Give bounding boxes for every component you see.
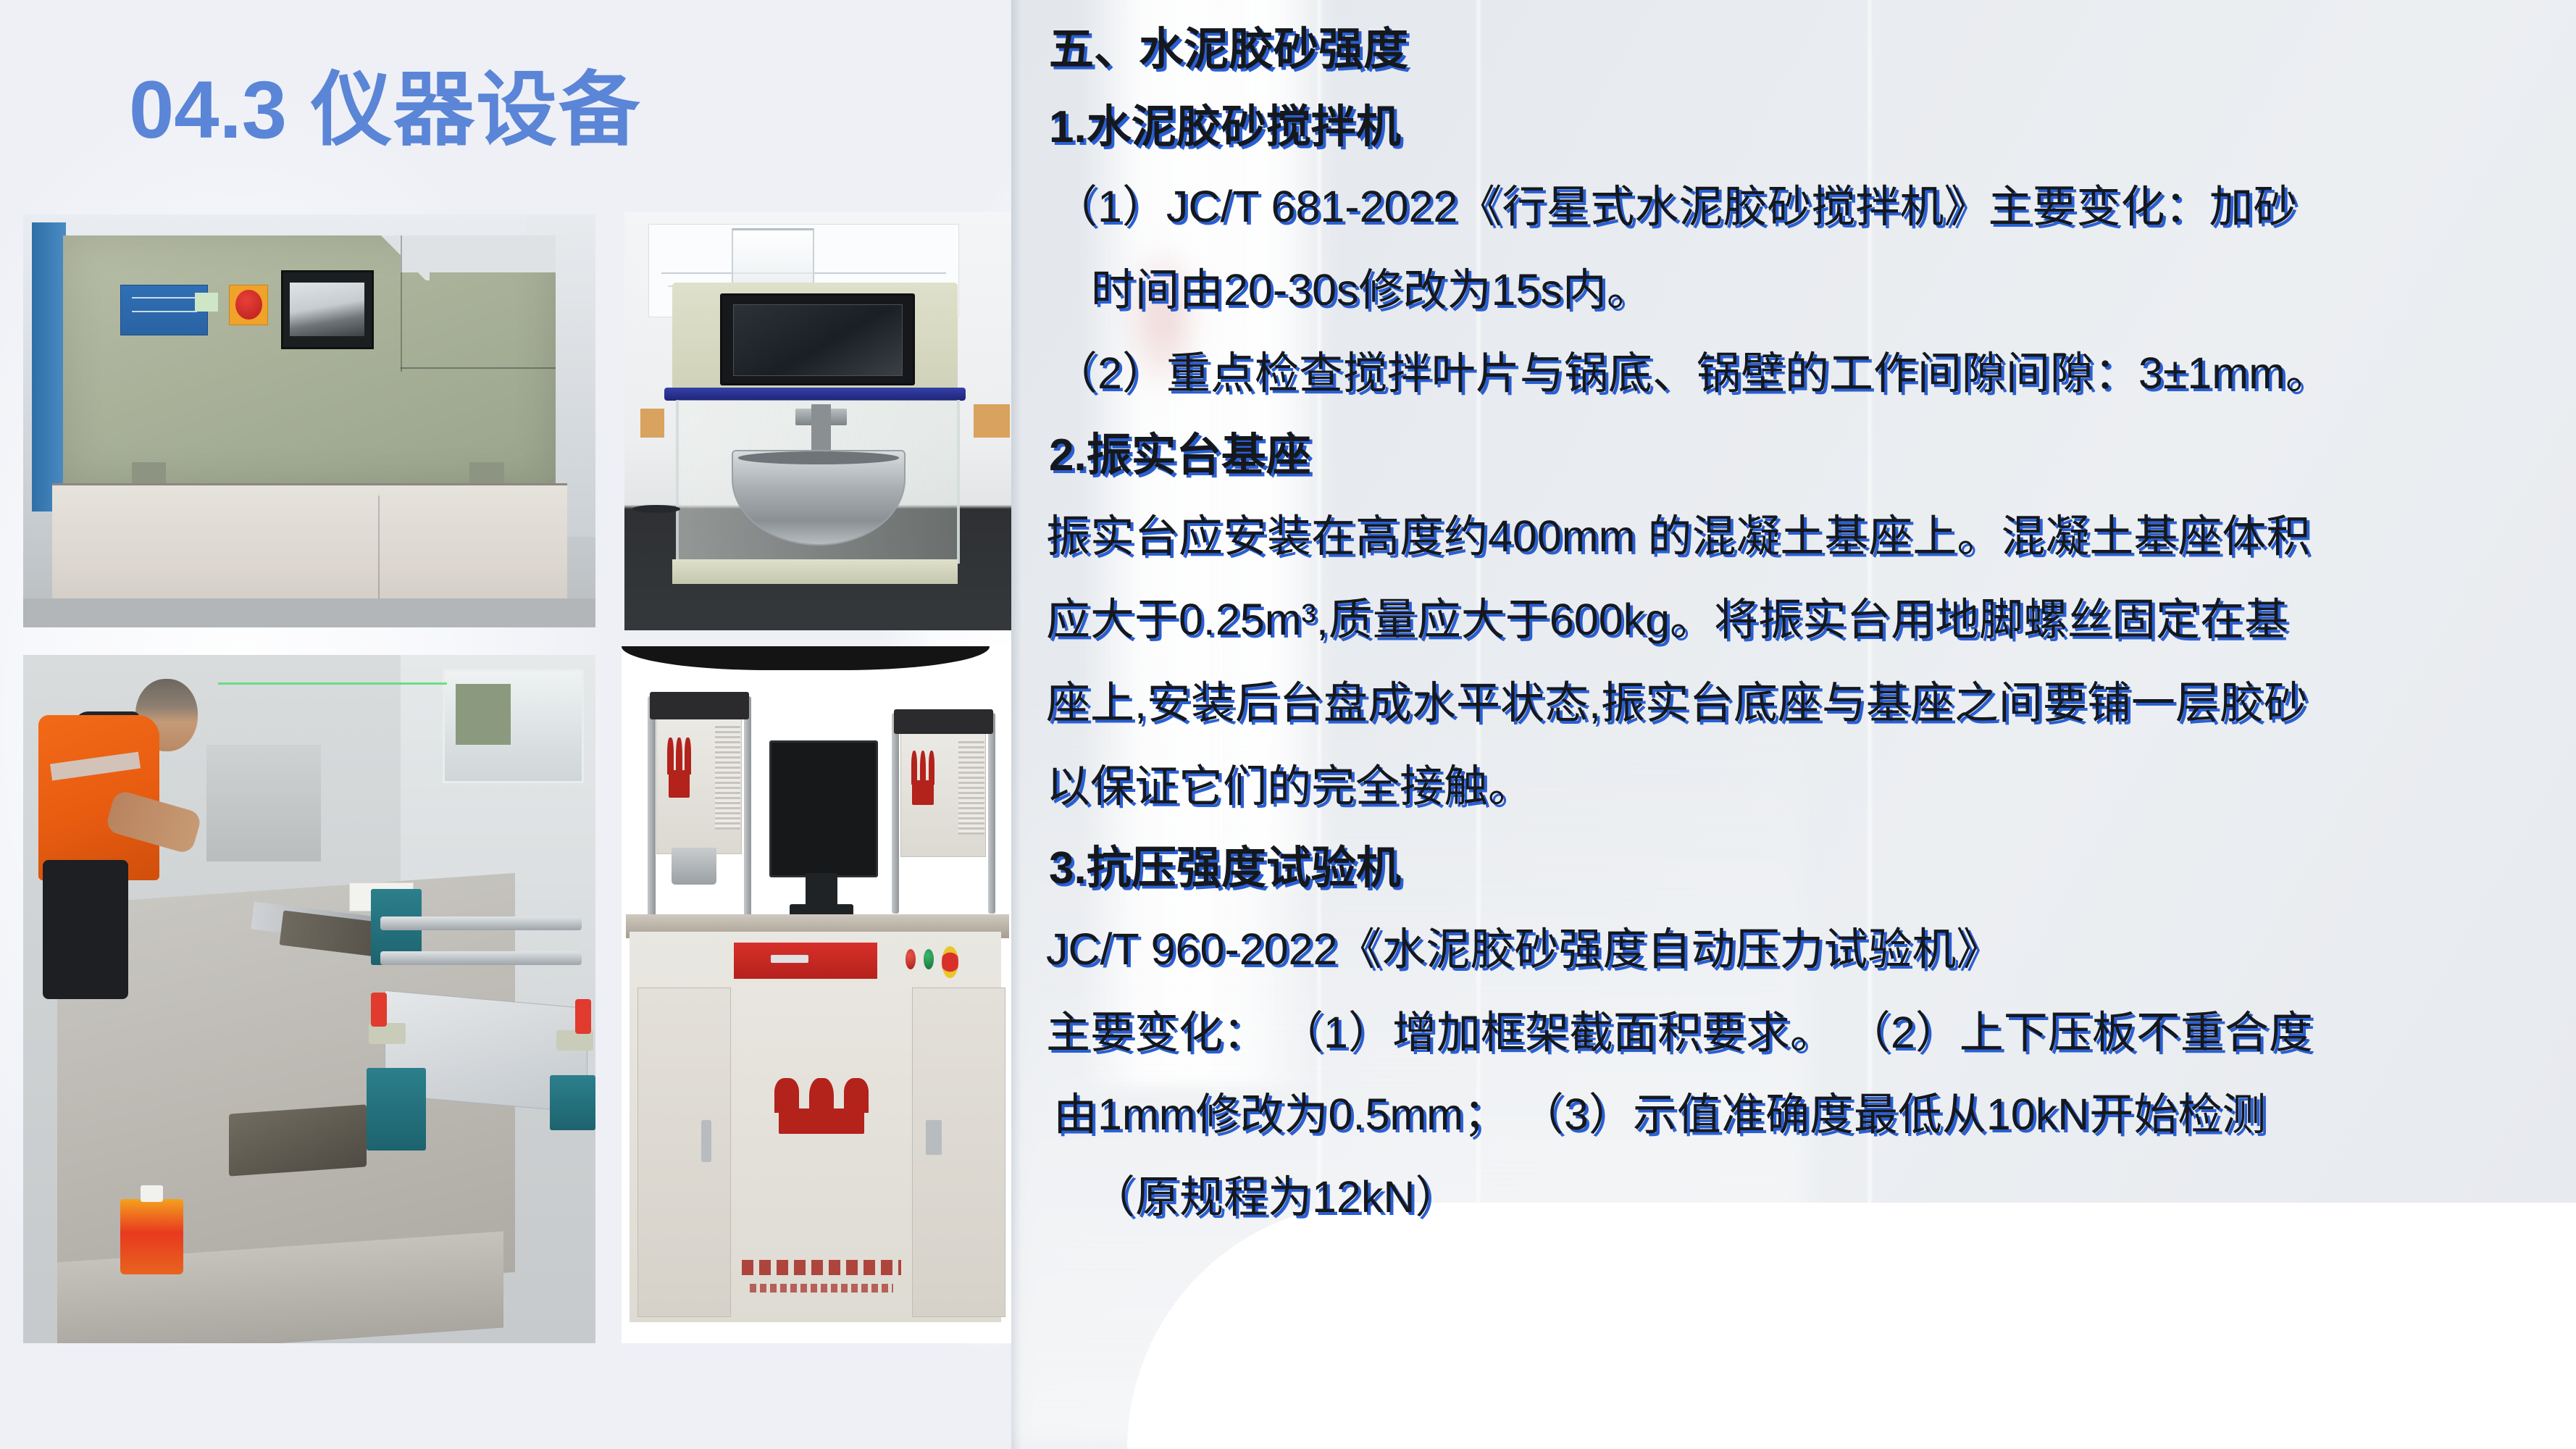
photo4-frame-cap-right bbox=[894, 709, 993, 735]
photo4-monitor-screen bbox=[769, 740, 878, 877]
photo3-guide-rail-lower bbox=[380, 951, 582, 965]
body-line-compression-1: JC/T 960-2022《水泥胶砂强度自动压力试验机》 bbox=[1011, 927, 2576, 972]
photo1-blue-pillar bbox=[32, 222, 66, 511]
photo3-guide-rail-upper bbox=[380, 916, 582, 930]
photo4-frame-column-left-b bbox=[744, 696, 751, 917]
photo3-mortar-patch bbox=[229, 1104, 367, 1176]
photo-vibration-table-cabinet bbox=[23, 214, 595, 627]
photo2-mixing-shaft bbox=[811, 404, 831, 454]
photo4-door-handle-right bbox=[926, 1120, 942, 1155]
photo4-emergency-stop-button bbox=[942, 946, 958, 978]
photo-compression-testing-machine bbox=[622, 646, 1021, 1343]
photo4-compression-frame-left bbox=[645, 692, 753, 922]
photo4-brand-logo-center bbox=[766, 1078, 878, 1134]
photo1-floor bbox=[23, 598, 595, 627]
body-line-mixer-2: 时间由20-30s修改为15s内。 bbox=[1011, 268, 2576, 312]
photo1-cabinet-seam bbox=[401, 367, 555, 369]
photo4-brand-logo-right bbox=[909, 751, 937, 805]
body-line-compression-3: 由1mm修改为0.5mm； （3）示值准确度最低从10kN开始检测 bbox=[1011, 1093, 2576, 1137]
photo3-worker-pants bbox=[43, 860, 128, 999]
body-line-base-1: 振实台应安装在高度约400mm 的混凝土基座上。混凝土基座体积 bbox=[1011, 514, 2576, 559]
photo2-mixer-display bbox=[720, 293, 915, 385]
photo4-manufacturer-name-cn bbox=[742, 1260, 902, 1275]
photo1-anchor-foot-left bbox=[132, 462, 166, 483]
right-content-panel: 五、水泥胶砂强度 1.水泥胶砂搅拌机 （1）JC/T 681-2022《行星式水… bbox=[1011, 0, 2576, 1449]
photo4-frame-column-right-b bbox=[988, 713, 995, 914]
photo2-wall-tag-right bbox=[974, 404, 1009, 438]
photo1-red-power-knob bbox=[229, 285, 267, 325]
photo4-red-drawer-panel bbox=[734, 943, 878, 979]
photo4-vent-grill-right bbox=[958, 738, 984, 835]
photo1-control-screen bbox=[281, 270, 374, 349]
photo2-power-cable bbox=[632, 505, 680, 514]
photo4-door-handle-left bbox=[701, 1120, 711, 1162]
photo4-hydraulic-ram-left bbox=[672, 848, 717, 885]
photo3-teal-base-left bbox=[367, 1068, 426, 1151]
photo1-cabinet-bevel bbox=[378, 235, 430, 281]
body-line-mixer-3: （2）重点检查搅拌叶片与锅底、锅壁的工作间隙间隙：3±1mm。 bbox=[1011, 351, 2576, 396]
body-line-mixer-1: （1）JC/T 681-2022《行星式水泥胶砂搅拌机》主要变化：加砂 bbox=[1011, 185, 2576, 229]
photo3-window bbox=[443, 669, 585, 783]
photo1-cabinet-seam-vertical bbox=[401, 235, 402, 372]
photo1-anchor-foot-right bbox=[469, 462, 503, 483]
left-image-panel: 04.3 仪器设备 bbox=[0, 0, 1011, 1449]
crown-icon bbox=[909, 751, 937, 805]
body-line-compression-2: 主要变化： （1）增加框架截面积要求。 （2）上下压板不重合度 bbox=[1011, 1011, 2576, 1055]
photo4-manufacturer-name-en bbox=[750, 1284, 894, 1293]
photo4-frame-column-left-a bbox=[648, 696, 655, 917]
subsection-heading-vibration-base: 2.振实台基座 bbox=[1011, 433, 2576, 478]
photo4-brand-logo-left bbox=[665, 738, 693, 798]
photo4-cabinet-door-left bbox=[637, 987, 731, 1316]
photo4-frame-cap-left bbox=[650, 692, 749, 719]
photo3-red-clamp-handle-left bbox=[371, 993, 387, 1027]
decorative-cloud-shape-secondary bbox=[1330, 1239, 2562, 1449]
photo4-compression-frame-right bbox=[890, 709, 998, 919]
photo2-mixer-baseplate bbox=[672, 559, 958, 585]
body-line-compression-4: （原规程为12kN） bbox=[1011, 1175, 2576, 1219]
photo1-green-sticker bbox=[195, 293, 218, 312]
photo4-frame-column-right-a bbox=[892, 713, 899, 914]
photo2-wall-tag-left bbox=[640, 409, 664, 438]
photo4-vent-grill-left bbox=[715, 724, 741, 830]
page-title: 04.3 仪器设备 bbox=[129, 70, 641, 151]
section-heading: 五、水泥胶砂强度 bbox=[1011, 28, 2576, 72]
page-title-text: 仪器设备 bbox=[311, 64, 641, 155]
body-line-base-2: 应大于0.25m³,质量应大于600kg。将振实台用地脚螺丝固定在基 bbox=[1011, 598, 2576, 642]
slide-canvas: 04.3 仪器设备 bbox=[0, 0, 2576, 1449]
photo3-oil-bottle bbox=[120, 1199, 183, 1275]
crown-icon bbox=[665, 738, 693, 798]
photo3-vibration-table-unit bbox=[367, 875, 595, 1219]
photo3-laser-level-line bbox=[218, 682, 447, 685]
photo3-teal-base-right bbox=[550, 1075, 595, 1130]
subsection-heading-mixer: 1.水泥胶砂搅拌机 bbox=[1011, 105, 2576, 150]
photo3-worker bbox=[35, 669, 230, 999]
photo2-blue-ring bbox=[664, 388, 966, 401]
body-line-base-4: 以保证它们的完全接触。 bbox=[1011, 764, 2576, 809]
subsection-heading-compression-machine: 3.抗压强度试验机 bbox=[1011, 846, 2576, 891]
photo-cement-mortar-mixer bbox=[624, 212, 1021, 630]
crown-icon bbox=[766, 1078, 878, 1134]
body-line-base-3: 座上,安装后台盘成水平状态,振实台底座与基座之间要铺一层胶砂 bbox=[1011, 681, 2576, 725]
photo3-red-clamp-handle-right bbox=[575, 999, 591, 1034]
photo-worker-installing-vibration-table bbox=[23, 655, 595, 1343]
page-title-number: 04.3 bbox=[129, 64, 287, 155]
